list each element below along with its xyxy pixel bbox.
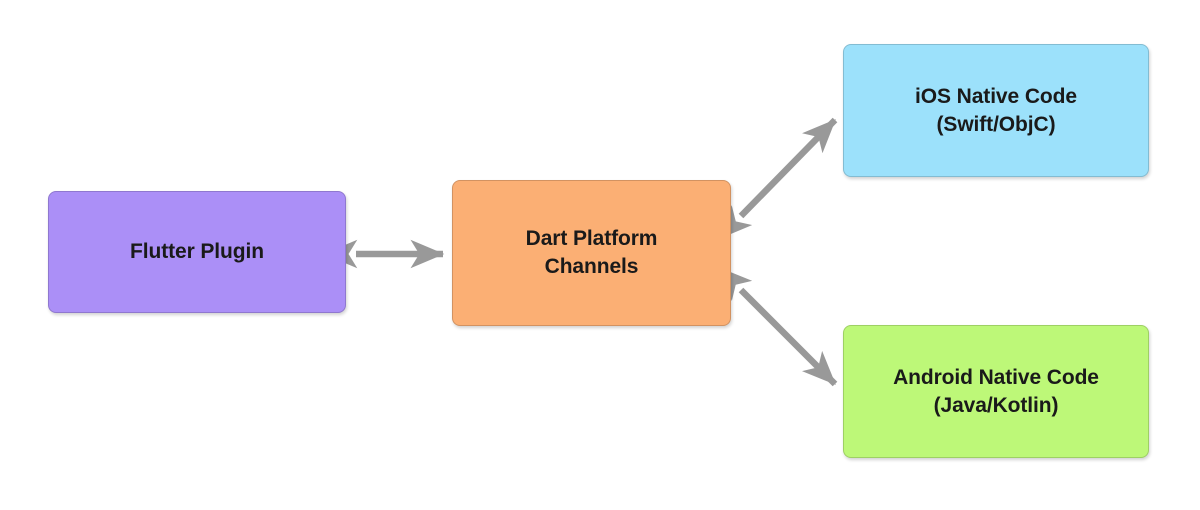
node-dart-platform-channels[interactable]: Dart Platform Channels (452, 180, 731, 326)
node-flutter-plugin-label: Flutter Plugin (120, 238, 274, 266)
edge-dart-platform-channels-to-ios-native-code (741, 120, 835, 216)
node-android-native-code-label: Android Native Code (Java/Kotlin) (883, 364, 1109, 419)
node-dart-platform-channels-label: Dart Platform Channels (516, 225, 668, 280)
node-flutter-plugin[interactable]: Flutter Plugin (48, 191, 346, 313)
node-ios-native-code-label: iOS Native Code (Swift/ObjC) (905, 83, 1087, 138)
diagram-canvas: Flutter Plugin Dart Platform Channels iO… (0, 0, 1200, 510)
node-ios-native-code[interactable]: iOS Native Code (Swift/ObjC) (843, 44, 1149, 177)
node-android-native-code[interactable]: Android Native Code (Java/Kotlin) (843, 325, 1149, 458)
edge-dart-platform-channels-to-android-native-code (741, 290, 835, 384)
